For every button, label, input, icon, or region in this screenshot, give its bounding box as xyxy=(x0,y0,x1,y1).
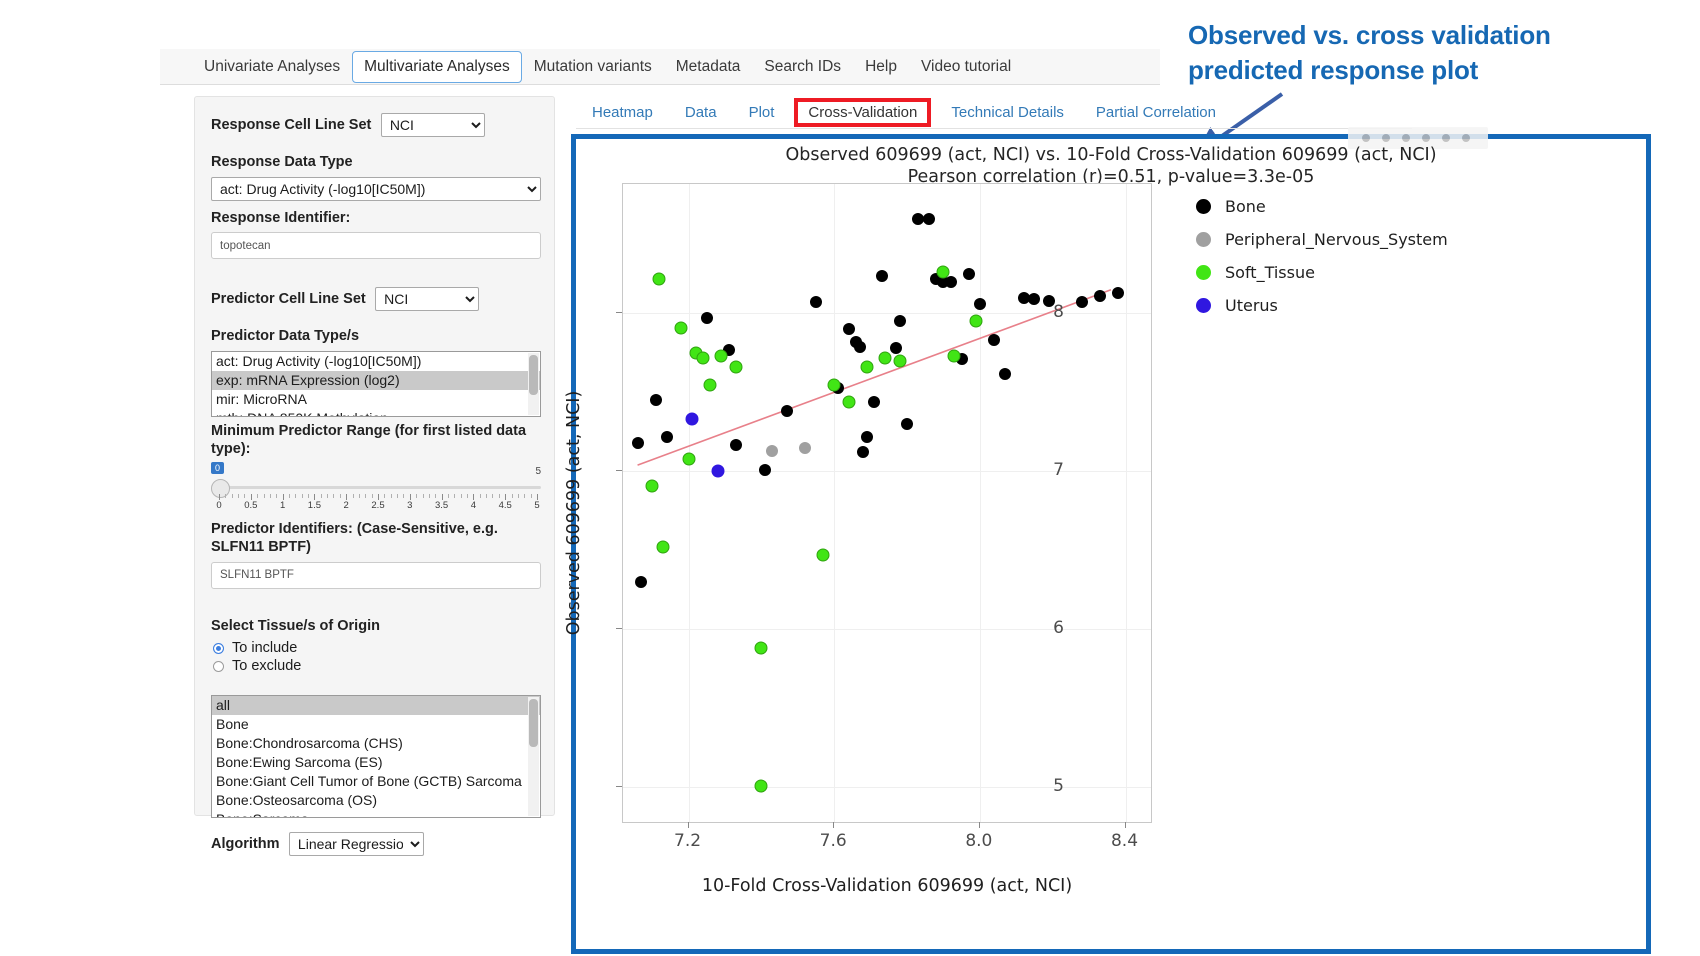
scatter-point xyxy=(879,351,892,364)
scatter-point xyxy=(1112,287,1124,299)
tissue-option[interactable]: Bone:Chondrosarcoma (CHS) xyxy=(212,734,540,753)
predictor-identifiers-input[interactable] xyxy=(211,562,541,589)
tab-technical-details[interactable]: Technical Details xyxy=(935,100,1080,125)
slider-tick-label: 0 xyxy=(216,500,221,511)
nav-item-help[interactable]: Help xyxy=(853,51,909,83)
slider-tick xyxy=(257,494,258,498)
legend-marker-icon xyxy=(1196,265,1211,280)
scatter-point xyxy=(974,298,986,310)
slider-tick-label: 3.5 xyxy=(435,500,448,511)
tissue-option[interactable]: Bone:Sarcoma xyxy=(212,810,540,818)
predictor-data-type-option[interactable]: mir: MicroRNA xyxy=(212,390,540,409)
scatter-point xyxy=(817,549,830,562)
slider-tick xyxy=(321,494,322,498)
tissue-scrollbar-thumb[interactable] xyxy=(529,699,538,747)
legend-marker-icon xyxy=(1196,199,1211,214)
slider-tick xyxy=(435,494,436,498)
slider-value-badge: 0 xyxy=(211,462,224,474)
scatter-point xyxy=(781,405,793,417)
legend-label: Soft_Tissue xyxy=(1225,263,1315,282)
controls-sidebar: Response Cell Line Set NCI Response Data… xyxy=(194,96,555,816)
slider-tick xyxy=(232,494,233,498)
nav-item-mutation-variants[interactable]: Mutation variants xyxy=(522,51,664,83)
scatter-point xyxy=(675,321,688,334)
scatter-point xyxy=(937,266,950,279)
plot-title: Observed 609699 (act, NCI) vs. 10-Fold C… xyxy=(576,145,1646,167)
x-axis-tick-mark xyxy=(833,822,834,828)
slider-tick xyxy=(524,494,525,498)
tissue-option[interactable]: Bone:Giant Cell Tumor of Bone (GCTB) Sar… xyxy=(212,772,540,791)
scatter-point xyxy=(876,270,888,282)
scatter-point xyxy=(843,323,855,335)
scatter-point xyxy=(661,431,673,443)
slider-tick xyxy=(353,494,354,498)
x-axis-tick-label: 7.6 xyxy=(820,831,847,851)
slider-tick xyxy=(492,494,493,498)
slider-tick xyxy=(403,494,404,498)
scatter-point xyxy=(701,312,713,324)
scatter-point xyxy=(729,361,742,374)
predictor-data-type-option[interactable]: act: Drug Activity (-log10[IC50M]) xyxy=(212,352,540,371)
scatter-point xyxy=(711,465,724,478)
scatter-point xyxy=(686,413,699,426)
scatter-point xyxy=(657,541,670,554)
slider-track[interactable] xyxy=(217,486,541,489)
plot-legend: BonePeripheral_Nervous_SystemSoft_Tissue… xyxy=(1196,197,1448,329)
legend-item[interactable]: Soft_Tissue xyxy=(1196,263,1448,282)
response-data-type-label: Response Data Type xyxy=(211,153,538,172)
x-axis-tick-mark xyxy=(979,822,980,828)
plot-area: Observed 609699 (act, NCI) vs. 10-Fold C… xyxy=(576,139,1646,949)
radio-include-icon[interactable] xyxy=(213,643,224,654)
scatter-point xyxy=(988,334,1000,346)
scatter-point xyxy=(650,394,662,406)
slider-tick xyxy=(384,494,385,498)
panel-tabbar: HeatmapDataPlotCross-ValidationTechnical… xyxy=(576,96,1412,129)
scatter-point xyxy=(1094,290,1106,302)
slider-tick xyxy=(486,494,487,498)
scatter-point xyxy=(704,378,717,391)
slider-tick xyxy=(276,494,277,498)
tissue-radio-include[interactable]: To include xyxy=(213,640,538,656)
slider-tick xyxy=(238,494,239,498)
slider-tick xyxy=(518,494,519,498)
slider-tick xyxy=(244,494,245,498)
y-axis-tick-label: 7 xyxy=(1053,460,1064,480)
scatter-point xyxy=(682,452,695,465)
slider-tick xyxy=(467,494,468,498)
scatter-point xyxy=(854,341,866,353)
annotation-line-1: Observed vs. cross validation xyxy=(1188,18,1608,53)
slider-tick-label: 2 xyxy=(344,500,349,511)
tissue-scrollbar[interactable] xyxy=(528,697,539,816)
x-axis-tick-mark xyxy=(688,822,689,828)
y-axis-tick-label: 5 xyxy=(1053,776,1064,796)
scatter-point xyxy=(653,272,666,285)
predictor-data-types-label: Predictor Data Type/s xyxy=(211,327,538,346)
predictor-data-type-option[interactable]: mth: DNA 850K Methylation xyxy=(212,409,540,417)
x-axis-tick-label: 7.2 xyxy=(674,831,701,851)
min-predictor-range-slider[interactable]: 0 5 00.511.522.533.544.55 xyxy=(211,464,541,516)
y-axis-tick-mark xyxy=(616,628,622,629)
predictor-data-types-scrollbar[interactable] xyxy=(528,353,539,415)
legend-item[interactable]: Uterus xyxy=(1196,296,1448,315)
scatter-point xyxy=(857,446,869,458)
scatter-point xyxy=(799,442,811,454)
tissue-option[interactable]: Bone:Osteosarcoma (OS) xyxy=(212,791,540,810)
slider-tick xyxy=(416,494,417,498)
nav-item-univariate-analyses[interactable]: Univariate Analyses xyxy=(192,51,352,83)
tissue-radio-include-label: To include xyxy=(232,640,297,656)
slider-tick xyxy=(454,494,455,498)
algorithm-select[interactable]: Linear Regression xyxy=(289,832,424,856)
scatter-point xyxy=(948,350,961,363)
slider-tick xyxy=(333,494,334,498)
scrollbar-thumb[interactable] xyxy=(529,355,538,395)
scatter-point xyxy=(766,445,778,457)
tissue-radio-exclude[interactable]: To exclude xyxy=(213,658,538,674)
slider-tick xyxy=(461,494,462,498)
slider-tick xyxy=(499,494,500,498)
predictor-cell-line-set-row: Predictor Cell Line Set NCI xyxy=(211,287,538,311)
response-identifier-label: Response Identifier: xyxy=(211,209,538,228)
tab-plot[interactable]: Plot xyxy=(733,100,791,125)
scatter-point xyxy=(810,296,822,308)
y-axis-tick-label: 8 xyxy=(1053,302,1064,322)
scatter-point xyxy=(963,268,975,280)
x-axis-tick-label: 8.0 xyxy=(965,831,992,851)
slider-tick xyxy=(270,494,271,498)
response-cell-line-set-select[interactable]: NCI xyxy=(381,113,485,137)
nav-item-multivariate-analyses[interactable]: Multivariate Analyses xyxy=(352,51,522,83)
slider-tick xyxy=(295,494,296,498)
scatter-point xyxy=(730,439,742,451)
slider-tick-label: 4 xyxy=(471,500,476,511)
slider-tick xyxy=(397,494,398,498)
legend-label: Peripheral_Nervous_System xyxy=(1225,230,1448,249)
trendline xyxy=(623,184,1151,822)
slider-tick xyxy=(289,494,290,498)
slider-tick-label: 0.5 xyxy=(244,500,257,511)
scatter-point xyxy=(828,378,841,391)
cross-validation-plot-panel: Observed 609699 (act, NCI) vs. 10-Fold C… xyxy=(571,134,1651,954)
y-axis-tick-mark xyxy=(616,312,622,313)
scatter-point xyxy=(999,368,1011,380)
slider-tick-label: 1.5 xyxy=(308,500,321,511)
y-axis-tick-mark xyxy=(616,786,622,787)
legend-marker-icon xyxy=(1196,298,1211,313)
legend-label: Bone xyxy=(1225,197,1266,216)
slider-tick xyxy=(225,494,226,498)
slider-tick xyxy=(391,494,392,498)
predictor-cell-line-set-label: Predictor Cell Line Set xyxy=(211,291,366,307)
slider-tick xyxy=(512,494,513,498)
scatter-point xyxy=(632,437,644,449)
scatter-point xyxy=(860,361,873,374)
slider-tick xyxy=(340,494,341,498)
legend-marker-icon xyxy=(1196,232,1211,247)
scatter-point xyxy=(842,395,855,408)
slider-tick-label: 3 xyxy=(407,500,412,511)
scatter-point xyxy=(755,779,768,792)
slider-max-label: 5 xyxy=(535,466,541,477)
tab-heatmap[interactable]: Heatmap xyxy=(576,100,669,125)
slider-tick xyxy=(308,494,309,498)
scatter-point xyxy=(759,464,771,476)
algorithm-label: Algorithm xyxy=(211,836,279,852)
y-axis-tick-label: 6 xyxy=(1053,618,1064,638)
radio-exclude-icon[interactable] xyxy=(213,661,224,672)
predictor-data-type-option[interactable]: exp: mRNA Expression (log2) xyxy=(212,371,540,390)
slider-tick xyxy=(302,494,303,498)
slider-tick xyxy=(429,494,430,498)
slider-tick xyxy=(448,494,449,498)
tab-partial-correlation[interactable]: Partial Correlation xyxy=(1080,100,1232,125)
slider-tick xyxy=(531,494,532,498)
response-identifier-input[interactable] xyxy=(211,232,541,259)
response-data-type-select[interactable]: act: Drug Activity (-log10[IC50M]) xyxy=(211,177,541,201)
slider-tick xyxy=(264,494,265,498)
slider-tick xyxy=(423,494,424,498)
scatter-point xyxy=(868,396,880,408)
scatter-point xyxy=(697,351,710,364)
slider-tick xyxy=(365,494,366,498)
scatter-point xyxy=(1028,293,1040,305)
slider-tick-label: 2.5 xyxy=(371,500,384,511)
scatter-point xyxy=(1076,296,1088,308)
slider-tick-label: 1 xyxy=(280,500,285,511)
tissue-radio-exclude-label: To exclude xyxy=(232,658,301,674)
scatter-point xyxy=(893,354,906,367)
plot-y-axis-label: Observed 609699 (act, NCI) xyxy=(564,391,584,636)
min-predictor-range-label: Minimum Predictor Range (for first liste… xyxy=(211,422,538,459)
predictor-cell-line-set-select[interactable]: NCI xyxy=(375,287,479,311)
scatter-point xyxy=(635,576,647,588)
response-cell-line-set-label: Response Cell Line Set xyxy=(211,117,371,133)
response-cell-line-set-row: Response Cell Line Set NCI xyxy=(211,113,538,137)
nav-item-search-ids[interactable]: Search IDs xyxy=(752,51,853,83)
annotation-callout: Observed vs. cross validation predicted … xyxy=(1188,18,1608,88)
algorithm-row: Algorithm Linear Regression xyxy=(211,832,538,856)
slider-tick-label: 5 xyxy=(534,500,539,511)
scatter-point xyxy=(970,315,983,328)
plot-axes xyxy=(622,183,1152,823)
tissue-option[interactable]: Bone:Ewing Sarcoma (ES) xyxy=(212,753,540,772)
nav-item-metadata[interactable]: Metadata xyxy=(664,51,753,83)
scatter-point xyxy=(894,315,906,327)
slider-tick xyxy=(359,494,360,498)
predictor-data-types-listbox[interactable]: act: Drug Activity (-log10[IC50M])exp: m… xyxy=(211,351,541,417)
legend-label: Uterus xyxy=(1225,296,1278,315)
annotation-line-2: predicted response plot xyxy=(1188,53,1608,88)
scatter-point xyxy=(715,350,728,363)
tissue-option[interactable]: all xyxy=(212,696,540,715)
slider-tick xyxy=(327,494,328,498)
scatter-point xyxy=(901,418,913,430)
tab-cross-validation[interactable]: Cross-Validation xyxy=(794,98,931,127)
legend-item[interactable]: Peripheral_Nervous_System xyxy=(1196,230,1448,249)
predictor-identifiers-label: Predictor Identifiers: (Case-Sensitive, … xyxy=(211,520,538,557)
scatter-point xyxy=(646,479,659,492)
tab-data[interactable]: Data xyxy=(669,100,733,125)
x-axis-tick-label: 8.4 xyxy=(1111,831,1138,851)
scatter-point xyxy=(890,342,902,354)
tissue-option[interactable]: Bone xyxy=(212,715,540,734)
scatter-point xyxy=(861,431,873,443)
tissue-listbox[interactable]: allBoneBone:Chondrosarcoma (CHS)Bone:Ewi… xyxy=(211,695,541,818)
legend-item[interactable]: Bone xyxy=(1196,197,1448,216)
y-axis-tick-mark xyxy=(616,470,622,471)
tissue-section-label: Select Tissue/s of Origin xyxy=(211,617,538,636)
scatter-point xyxy=(755,642,768,655)
slider-tick xyxy=(372,494,373,498)
nav-item-video-tutorial[interactable]: Video tutorial xyxy=(909,51,1023,83)
x-axis-tick-mark xyxy=(1125,822,1126,828)
scatter-point xyxy=(923,213,935,225)
slider-tick-label: 4.5 xyxy=(499,500,512,511)
slider-tick xyxy=(480,494,481,498)
main-navigation: Univariate AnalysesMultivariate Analyses… xyxy=(160,49,1160,85)
plot-x-axis-label: 10-Fold Cross-Validation 609699 (act, NC… xyxy=(622,876,1152,896)
